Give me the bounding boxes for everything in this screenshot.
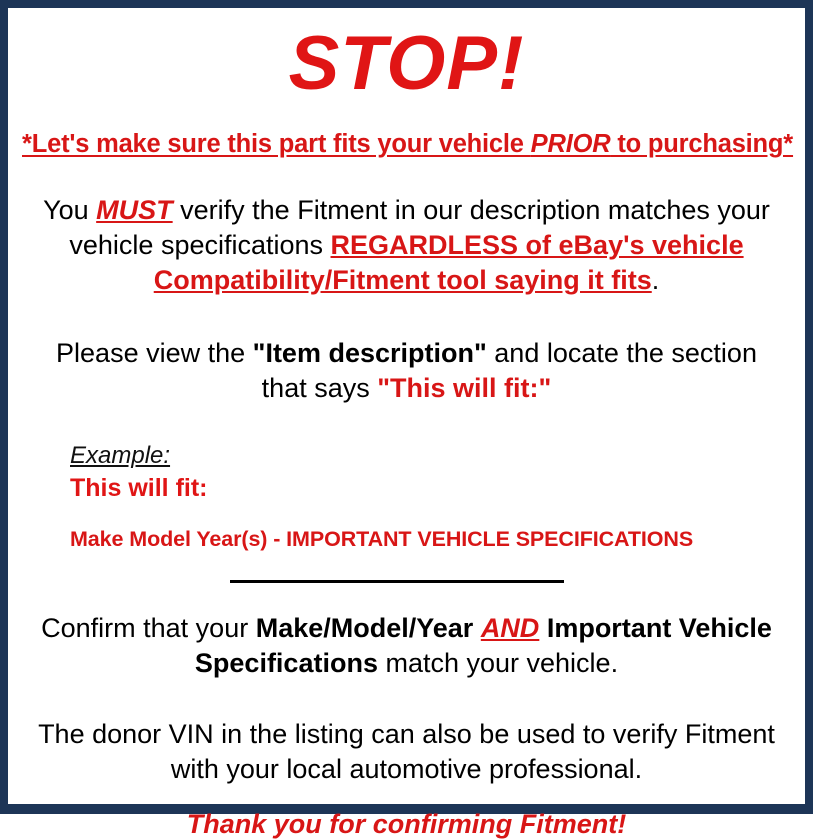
example-spec-line: Make Model Year(s) - IMPORTANT VEHICLE S… bbox=[70, 527, 791, 552]
must-part1: You bbox=[43, 195, 96, 225]
fitment-notice-card: STOP! *Let's make sure this part fits yo… bbox=[0, 0, 813, 814]
must-part3: . bbox=[652, 265, 660, 295]
item-description-label: "Item description" bbox=[253, 338, 487, 368]
divider-rule bbox=[230, 580, 564, 583]
divider bbox=[22, 577, 791, 587]
subtitle-banner: *Let's make sure this part fits your veh… bbox=[22, 130, 791, 159]
paragraph-must-verify: You MUST verify the Fitment in our descr… bbox=[22, 193, 791, 298]
subtitle-suffix: to purchasing* bbox=[610, 130, 793, 158]
example-fit-heading: This will fit: bbox=[70, 473, 791, 503]
page-title: STOP! bbox=[22, 26, 791, 102]
example-label: Example: bbox=[70, 442, 791, 470]
example-block: Example: This will fit: Make Model Year(… bbox=[22, 442, 791, 552]
paragraph-donor-vin: The donor VIN in the listing can also be… bbox=[22, 717, 791, 787]
this-will-fit-quote: "This will fit:" bbox=[377, 373, 551, 403]
paragraph-confirm: Confirm that your Make/Model/Year AND Im… bbox=[22, 611, 791, 681]
view-part1: Please view the bbox=[56, 338, 253, 368]
thank-you-line: Thank you for confirming Fitment! bbox=[22, 809, 791, 840]
must-emphasis: MUST bbox=[96, 195, 173, 225]
and-emphasis: AND bbox=[481, 613, 540, 643]
confirm-part2: match your vehicle. bbox=[378, 648, 618, 678]
confirm-part1: Confirm that your bbox=[41, 613, 256, 643]
subtitle-emphasis: PRIOR bbox=[531, 130, 611, 158]
subtitle-prefix: *Let's make sure this part fits your veh… bbox=[22, 130, 531, 158]
confirm-bold1: Make/Model/Year bbox=[256, 613, 481, 643]
paragraph-item-description: Please view the "Item description" and l… bbox=[22, 336, 791, 406]
